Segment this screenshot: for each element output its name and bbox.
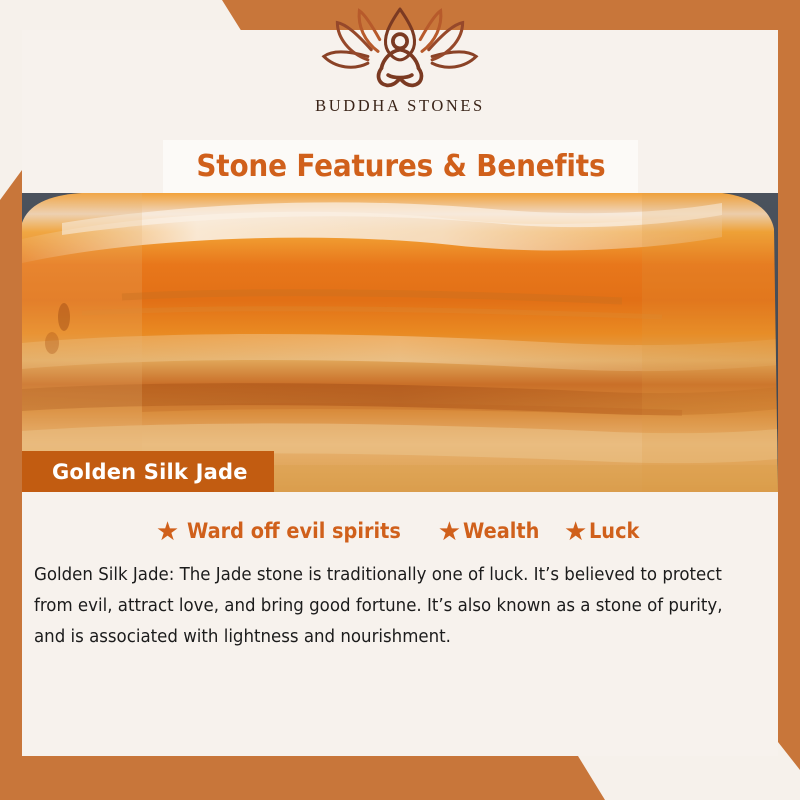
star-icon: ★ bbox=[156, 518, 179, 544]
benefit-label: Luck bbox=[589, 519, 639, 543]
lotus-meditation-icon bbox=[314, 4, 486, 92]
stone-caption-banner: Golden Silk Jade bbox=[22, 451, 274, 492]
stone-caption-text: Golden Silk Jade bbox=[52, 460, 248, 484]
page-title: Stone Features & Benefits bbox=[196, 149, 605, 184]
stone-photo-image bbox=[22, 193, 778, 492]
frame-bottom-band bbox=[0, 756, 605, 800]
benefit-label: Wealth bbox=[463, 519, 539, 543]
frame-left-band bbox=[0, 170, 22, 800]
brand-logo: BUDDHA STONES bbox=[0, 4, 800, 116]
benefit-item: ★ Luck bbox=[564, 518, 644, 544]
brand-name: BUDDHA STONES bbox=[315, 96, 485, 116]
benefit-label: Ward off evil spirits bbox=[187, 519, 401, 543]
benefit-item: ★ Wealth bbox=[438, 518, 546, 544]
benefit-item: ★ Ward off evil spirits bbox=[156, 518, 420, 544]
star-icon: ★ bbox=[438, 518, 461, 544]
title-banner: Stone Features & Benefits bbox=[163, 140, 638, 193]
benefits-row: ★ Ward off evil spirits ★ Wealth ★ Luck bbox=[22, 518, 778, 544]
stone-photo: Golden Silk Jade bbox=[22, 193, 778, 492]
stone-description: Golden Silk Jade: The Jade stone is trad… bbox=[34, 560, 741, 653]
star-icon: ★ bbox=[564, 518, 587, 544]
